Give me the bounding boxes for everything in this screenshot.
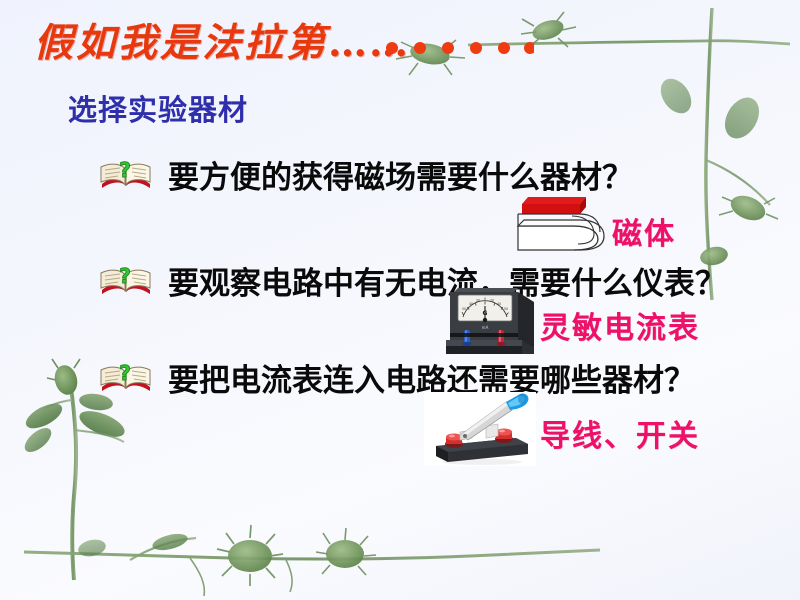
horseshoe-magnet-image [512,192,622,254]
answer-text-1: 磁体 [612,209,676,253]
question-row-3: ? 要把电流表连入电路还需要哪些器材？ [98,355,695,400]
svg-text:20: 20 [476,299,480,303]
svg-text:0: 0 [484,297,486,301]
svg-text:G: G [483,310,488,317]
svg-text:50: 50 [462,307,466,311]
svg-text:?: ? [119,361,131,385]
svg-text:40: 40 [469,302,473,306]
question-text-1: 要方便的获得磁场需要什么器材？ [168,152,633,197]
slide-subtitle: 选择实验器材 [68,87,248,129]
title-ellipsis-dots-icon [384,38,534,58]
svg-text:20: 20 [490,299,494,303]
slide-title-text: 假如我是法拉第 [34,20,328,66]
svg-text:mA: mA [482,325,489,330]
slide-canvas: 假如我是法拉第…… 选择实验器材 ? 要方便的获得磁场需要什么器材？ [0,0,800,600]
question-row-1: ? 要方便的获得磁场需要什么器材？ [98,152,633,197]
slide-title: 假如我是法拉第…… [34,12,410,68]
answer-text-2: 灵敏电流表 [540,303,700,347]
svg-text:?: ? [119,158,131,182]
book-question-icon: ? [98,264,154,298]
answer-text-3: 导线、开关 [540,411,700,455]
svg-text:?: ? [119,264,131,288]
galvanometer-image: 504020 0204050 G mA [440,284,542,360]
book-question-icon: ? [98,158,154,192]
question-row-2: ? 要观察电路中有无电流，需要什么仪表？ [98,258,726,303]
book-question-icon: ? [98,361,154,395]
knife-switch-image [424,392,536,466]
svg-text:50: 50 [504,307,508,311]
svg-text:40: 40 [497,302,501,306]
